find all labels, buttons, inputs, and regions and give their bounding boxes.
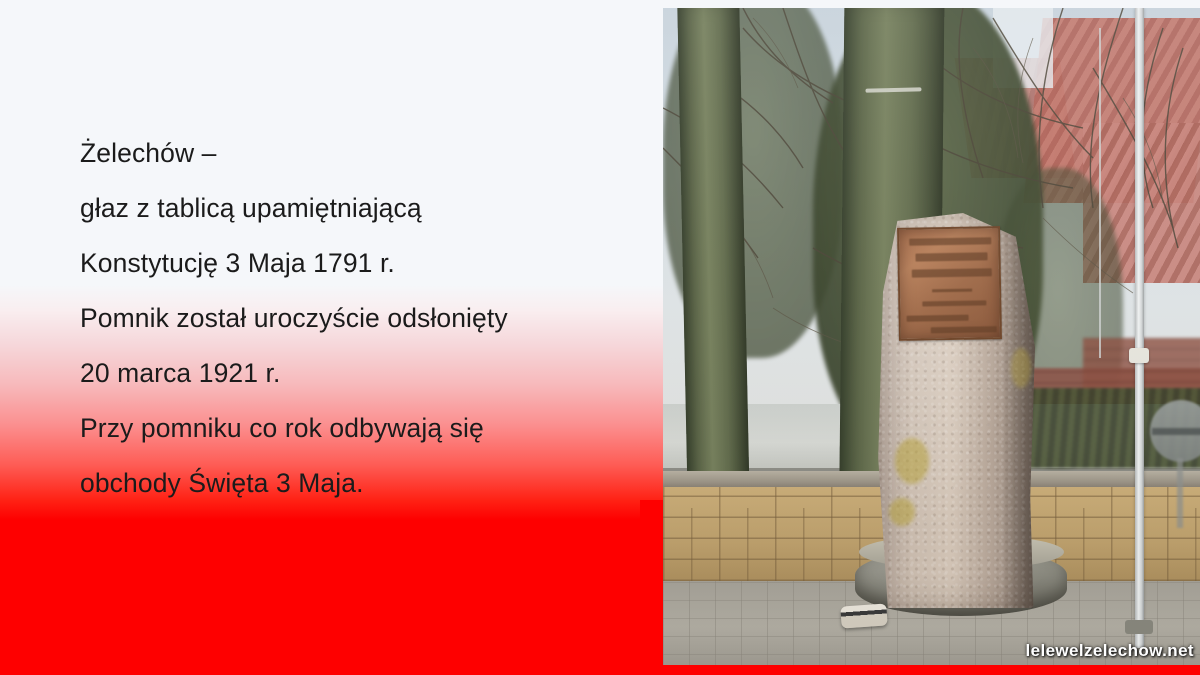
monument-photograph: lelewelzelechow.net <box>663 8 1200 665</box>
flag-halyard-rope <box>1099 28 1101 358</box>
plaque-text-row-4 <box>922 300 986 306</box>
plaque-text-row-6 <box>931 326 997 333</box>
text-line-1: Żelechów – <box>80 126 640 181</box>
red-flag-edge-strip <box>640 500 663 675</box>
flagpole-base <box>1125 620 1153 634</box>
text-line-5: 20 marca 1921 r. <box>80 346 640 401</box>
slide-root: Żelechów – głaz z tablicą upamiętniającą… <box>0 0 1200 675</box>
plaque-separator-ornament <box>932 289 972 293</box>
plaque-text-row-3 <box>912 268 992 277</box>
lichen-patch-2 <box>889 498 915 526</box>
text-line-2: głaz z tablicą upamiętniającą <box>80 181 640 236</box>
memorial-candle <box>840 603 887 628</box>
bronze-commemorative-plaque <box>897 226 1002 341</box>
lichen-patch-3 <box>1011 348 1031 388</box>
slide-text-block: Żelechów – głaz z tablicą upamiętniającą… <box>80 126 640 511</box>
trunk-paint-mark <box>865 87 921 92</box>
text-line-6: Przy pomniku co rok odbywają się <box>80 401 640 456</box>
photo-canvas: lelewelzelechow.net <box>663 8 1200 665</box>
photo-bottom-red-strip <box>663 665 1200 675</box>
text-line-3: Konstytucję 3 Maja 1791 r. <box>80 236 640 291</box>
flagpole-cleat <box>1129 348 1149 363</box>
plaque-text-row-5 <box>907 315 969 322</box>
road-sign-post <box>1177 458 1183 528</box>
site-watermark: lelewelzelechow.net <box>1025 641 1194 661</box>
text-line-4: Pomnik został uroczyście odsłonięty <box>80 291 640 346</box>
plaque-text-row-2 <box>915 252 987 261</box>
white-flagpole <box>1135 8 1144 648</box>
text-line-7: obchody Święta 3 Maja. <box>80 456 640 511</box>
lichen-patch-1 <box>895 438 929 484</box>
plaque-text-row-1 <box>909 237 991 245</box>
road-sign-bar <box>1152 428 1200 435</box>
